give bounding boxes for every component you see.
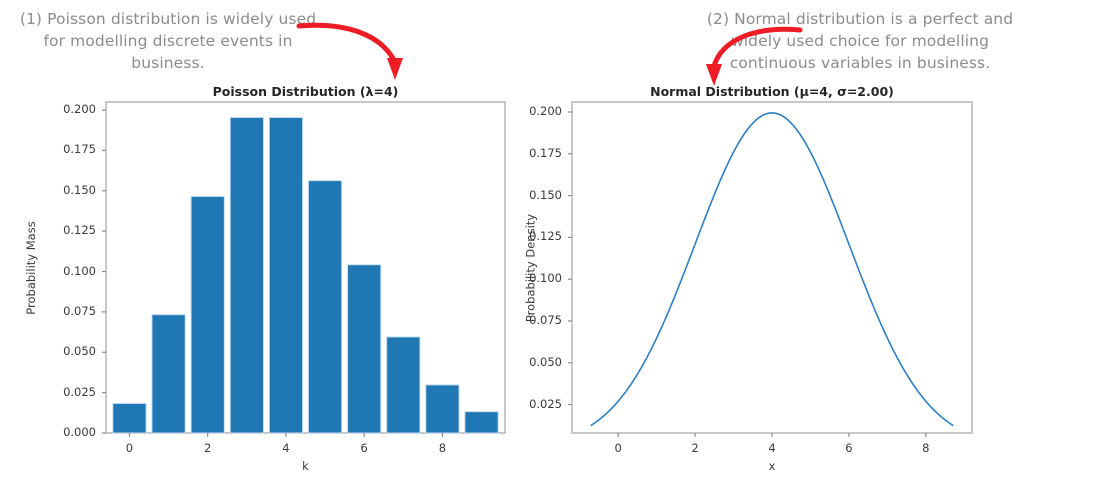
normal-x-tick-label: 6 <box>824 441 874 455</box>
poisson-x-tick-label: 8 <box>417 441 467 455</box>
normal-y-tick-label: 0.175 <box>458 146 562 160</box>
poisson-bar <box>113 403 146 433</box>
normal-y-tick-label: 0.075 <box>458 313 562 327</box>
poisson-x-tick-label: 4 <box>261 441 311 455</box>
poisson-bar <box>152 315 185 433</box>
poisson-y-tick-label: 0.150 <box>0 183 96 197</box>
normal-y-tick-label: 0.200 <box>458 104 562 118</box>
poisson-bar <box>191 196 224 433</box>
poisson-y-tick-label: 0.175 <box>0 142 96 156</box>
poisson-x-tick-label: 2 <box>183 441 233 455</box>
poisson-bar <box>308 181 341 433</box>
normal-y-tick-label: 0.150 <box>458 188 562 202</box>
poisson-plot-area <box>0 0 520 478</box>
poisson-x-axis-label: k <box>106 459 505 473</box>
normal-y-tick-label: 0.025 <box>458 397 562 411</box>
normal-density-curve <box>591 113 953 425</box>
poisson-bar <box>230 118 263 433</box>
normal-plot-area <box>498 0 1100 478</box>
poisson-y-tick-label: 0.025 <box>0 385 96 399</box>
normal-x-tick-label: 0 <box>593 441 643 455</box>
normal-chart: Normal Distribution (μ=4, σ=2.00) x Prob… <box>498 0 1100 478</box>
normal-x-axis-label: x <box>572 459 972 473</box>
poisson-bar <box>465 412 498 433</box>
figure-canvas: (1) Poisson distribution is widely used … <box>0 0 1100 478</box>
normal-x-tick-label: 8 <box>901 441 951 455</box>
poisson-y-tick-label: 0.075 <box>0 304 96 318</box>
normal-y-tick-label: 0.050 <box>458 355 562 369</box>
poisson-y-tick-label: 0.125 <box>0 223 96 237</box>
normal-x-tick-label: 2 <box>670 441 720 455</box>
poisson-y-tick-label: 0.100 <box>0 264 96 278</box>
normal-y-tick-label: 0.125 <box>458 229 562 243</box>
poisson-y-tick-label: 0.050 <box>0 344 96 358</box>
poisson-bar <box>348 265 381 433</box>
poisson-x-tick-label: 6 <box>339 441 389 455</box>
poisson-x-tick-label: 0 <box>104 441 154 455</box>
poisson-chart: Poisson Distribution (λ=4) k Probability… <box>0 0 520 478</box>
poisson-y-tick-label: 0.000 <box>0 425 96 439</box>
poisson-bar <box>387 337 420 433</box>
normal-x-tick-label: 4 <box>747 441 797 455</box>
poisson-y-tick-label: 0.200 <box>0 102 96 116</box>
normal-y-tick-label: 0.100 <box>458 271 562 285</box>
poisson-bar <box>426 385 459 433</box>
poisson-bar <box>269 118 302 433</box>
